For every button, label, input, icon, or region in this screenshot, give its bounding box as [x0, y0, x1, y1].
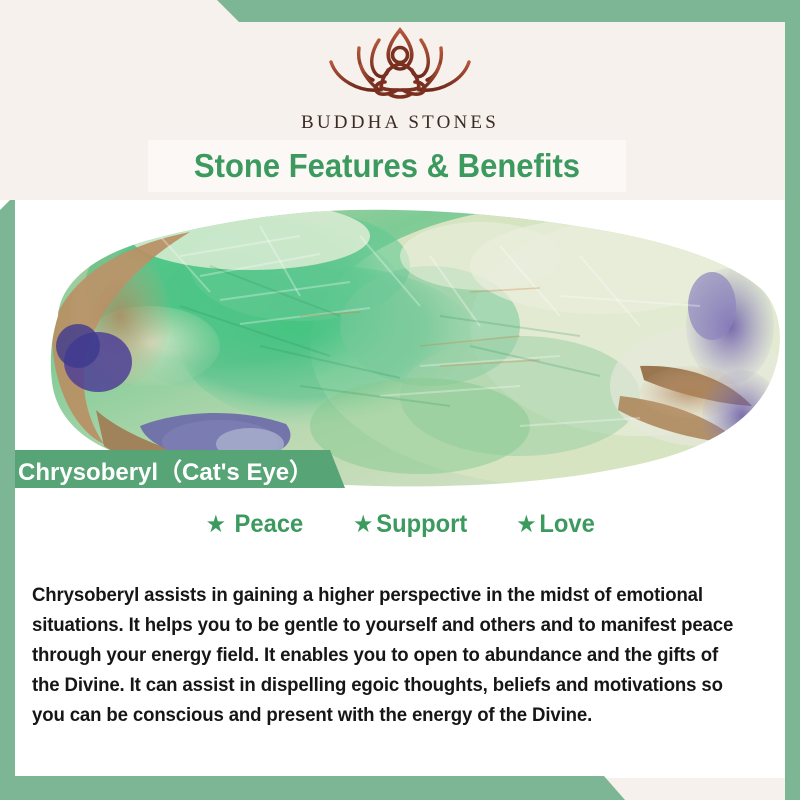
keyword-peace: ★ Peace [206, 510, 304, 539]
star-icon: ★ [516, 513, 536, 537]
star-icon: ★ [206, 513, 226, 537]
brand-name: BUDDHA STONES [301, 112, 499, 134]
brand-logo: BUDDHA STONES [0, 22, 800, 134]
stone-photo [0, 196, 800, 488]
stone-name: Chrysoberyl（Cat's Eye） [0, 452, 313, 487]
page-title: Stone Features & Benefits [162, 140, 611, 192]
frame-bar-bottom [0, 776, 800, 800]
page-title-band: Stone Features & Benefits [148, 140, 626, 192]
keyword-label: Support [376, 510, 467, 539]
content-panel: ★ Peace ★ Support ★ Love Chrysoberyl ass… [0, 488, 800, 778]
keyword-label: Love [540, 510, 595, 539]
keyword-love: ★ Love [516, 510, 595, 539]
stone-name-banner: Chrysoberyl（Cat's Eye） [0, 450, 345, 488]
keyword-label: Peace [235, 510, 304, 539]
frame-bar-right [785, 0, 800, 800]
frame-bar-left [0, 200, 15, 800]
stone-description: Chrysoberyl assists in gaining a higher … [32, 580, 739, 730]
stone-photo-image [0, 196, 800, 488]
lotus-meditation-icon [315, 22, 485, 108]
keyword-support: ★ Support [353, 510, 467, 539]
star-icon: ★ [353, 513, 373, 537]
keyword-list: ★ Peace ★ Support ★ Love [0, 510, 800, 539]
